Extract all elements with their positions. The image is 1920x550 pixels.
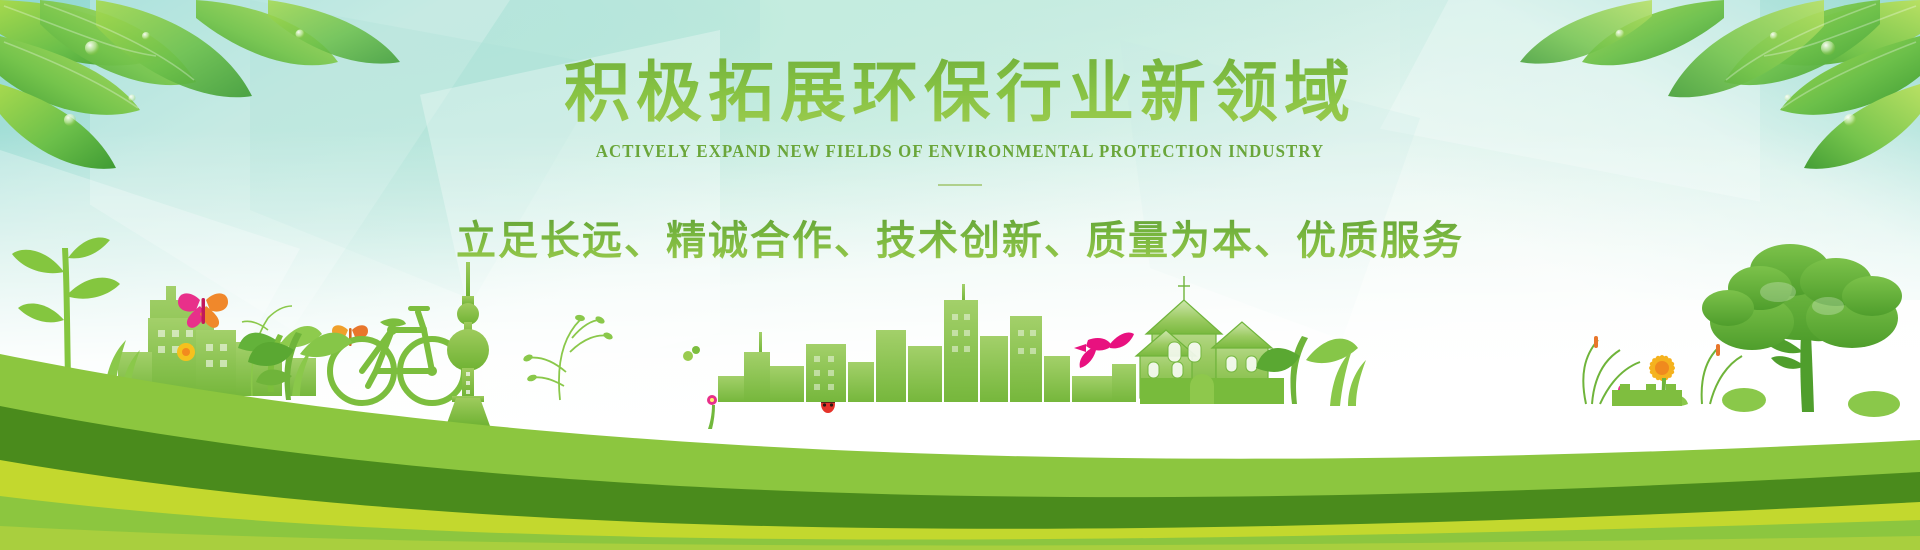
eco-banner: 积极拓展环保行业新领域 ACTIVELY EXPAND NEW FIELDS O… [0, 0, 1920, 550]
banner-text-block: 积极拓展环保行业新领域 ACTIVELY EXPAND NEW FIELDS O… [0, 0, 1920, 266]
english-subtitle: ACTIVELY EXPAND NEW FIELDS OF ENVIRONMEN… [38, 141, 1881, 162]
title-divider [938, 184, 982, 186]
sketch-house-tower [1178, 276, 1190, 300]
tagline: 立足长远、精诚合作、技术创新、质量为本、优质服务 [0, 208, 1920, 266]
wave-ribbons [0, 320, 1920, 550]
page-title: 积极拓展环保行业新领域 [0, 0, 1920, 129]
